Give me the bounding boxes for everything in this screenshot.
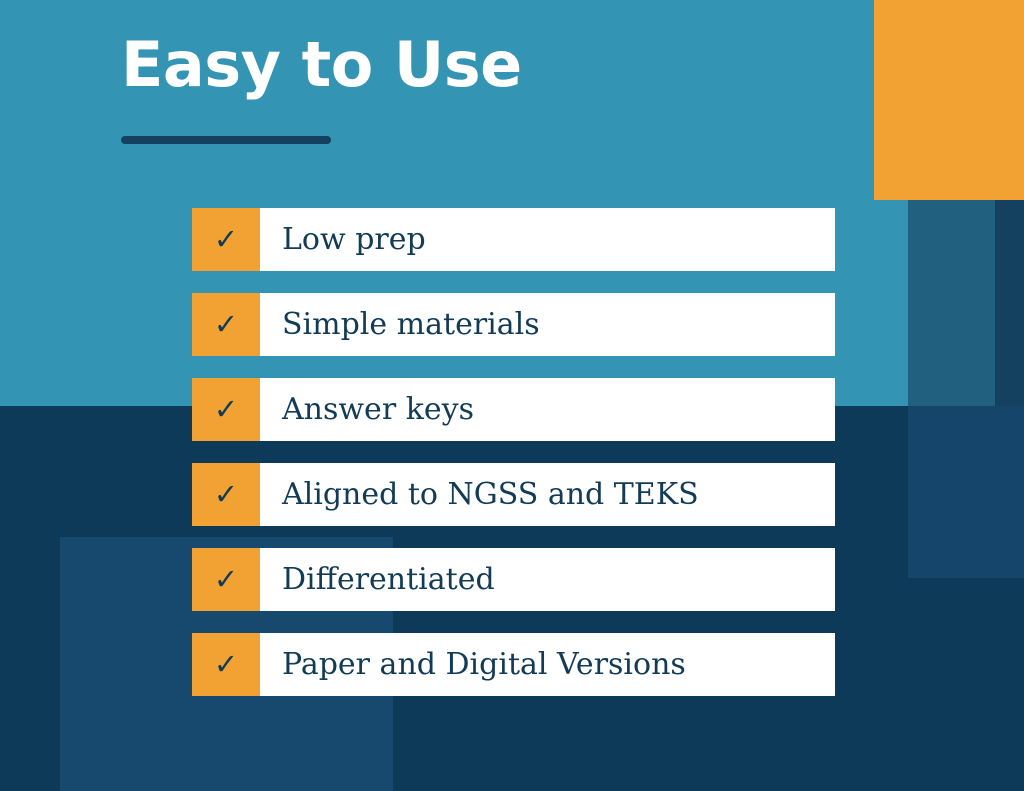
list-item-label: Differentiated (260, 548, 835, 611)
list-item[interactable]: ✓ Aligned to NGSS and TEKS (192, 463, 835, 526)
title-underline-rule (121, 136, 331, 144)
list-item[interactable]: ✓ Paper and Digital Versions (192, 633, 835, 696)
check-icon: ✓ (192, 633, 260, 696)
list-item-label: Paper and Digital Versions (260, 633, 835, 696)
page-title: Easy to Use (121, 34, 881, 96)
list-item[interactable]: ✓ Answer keys (192, 378, 835, 441)
check-icon: ✓ (192, 548, 260, 611)
header: Easy to Use (121, 34, 881, 96)
check-icon: ✓ (192, 463, 260, 526)
list-item[interactable]: ✓ Differentiated (192, 548, 835, 611)
check-icon: ✓ (192, 293, 260, 356)
list-item-label: Low prep (260, 208, 835, 271)
decorative-rect-orange (874, 0, 1024, 200)
list-item-label: Simple materials (260, 293, 835, 356)
list-item-label: Answer keys (260, 378, 835, 441)
decorative-rect-navy-right-edge (995, 200, 1024, 406)
list-item[interactable]: ✓ Simple materials (192, 293, 835, 356)
slide-canvas: Easy to Use ✓ Low prep ✓ Simple material… (0, 0, 1024, 791)
decorative-rect-navy-right-lower (908, 406, 1024, 578)
list-item[interactable]: ✓ Low prep (192, 208, 835, 271)
check-icon: ✓ (192, 208, 260, 271)
check-icon: ✓ (192, 378, 260, 441)
list-item-label: Aligned to NGSS and TEKS (260, 463, 835, 526)
decorative-rect-blue-right-upper (908, 200, 995, 406)
feature-list: ✓ Low prep ✓ Simple materials ✓ Answer k… (192, 208, 835, 696)
